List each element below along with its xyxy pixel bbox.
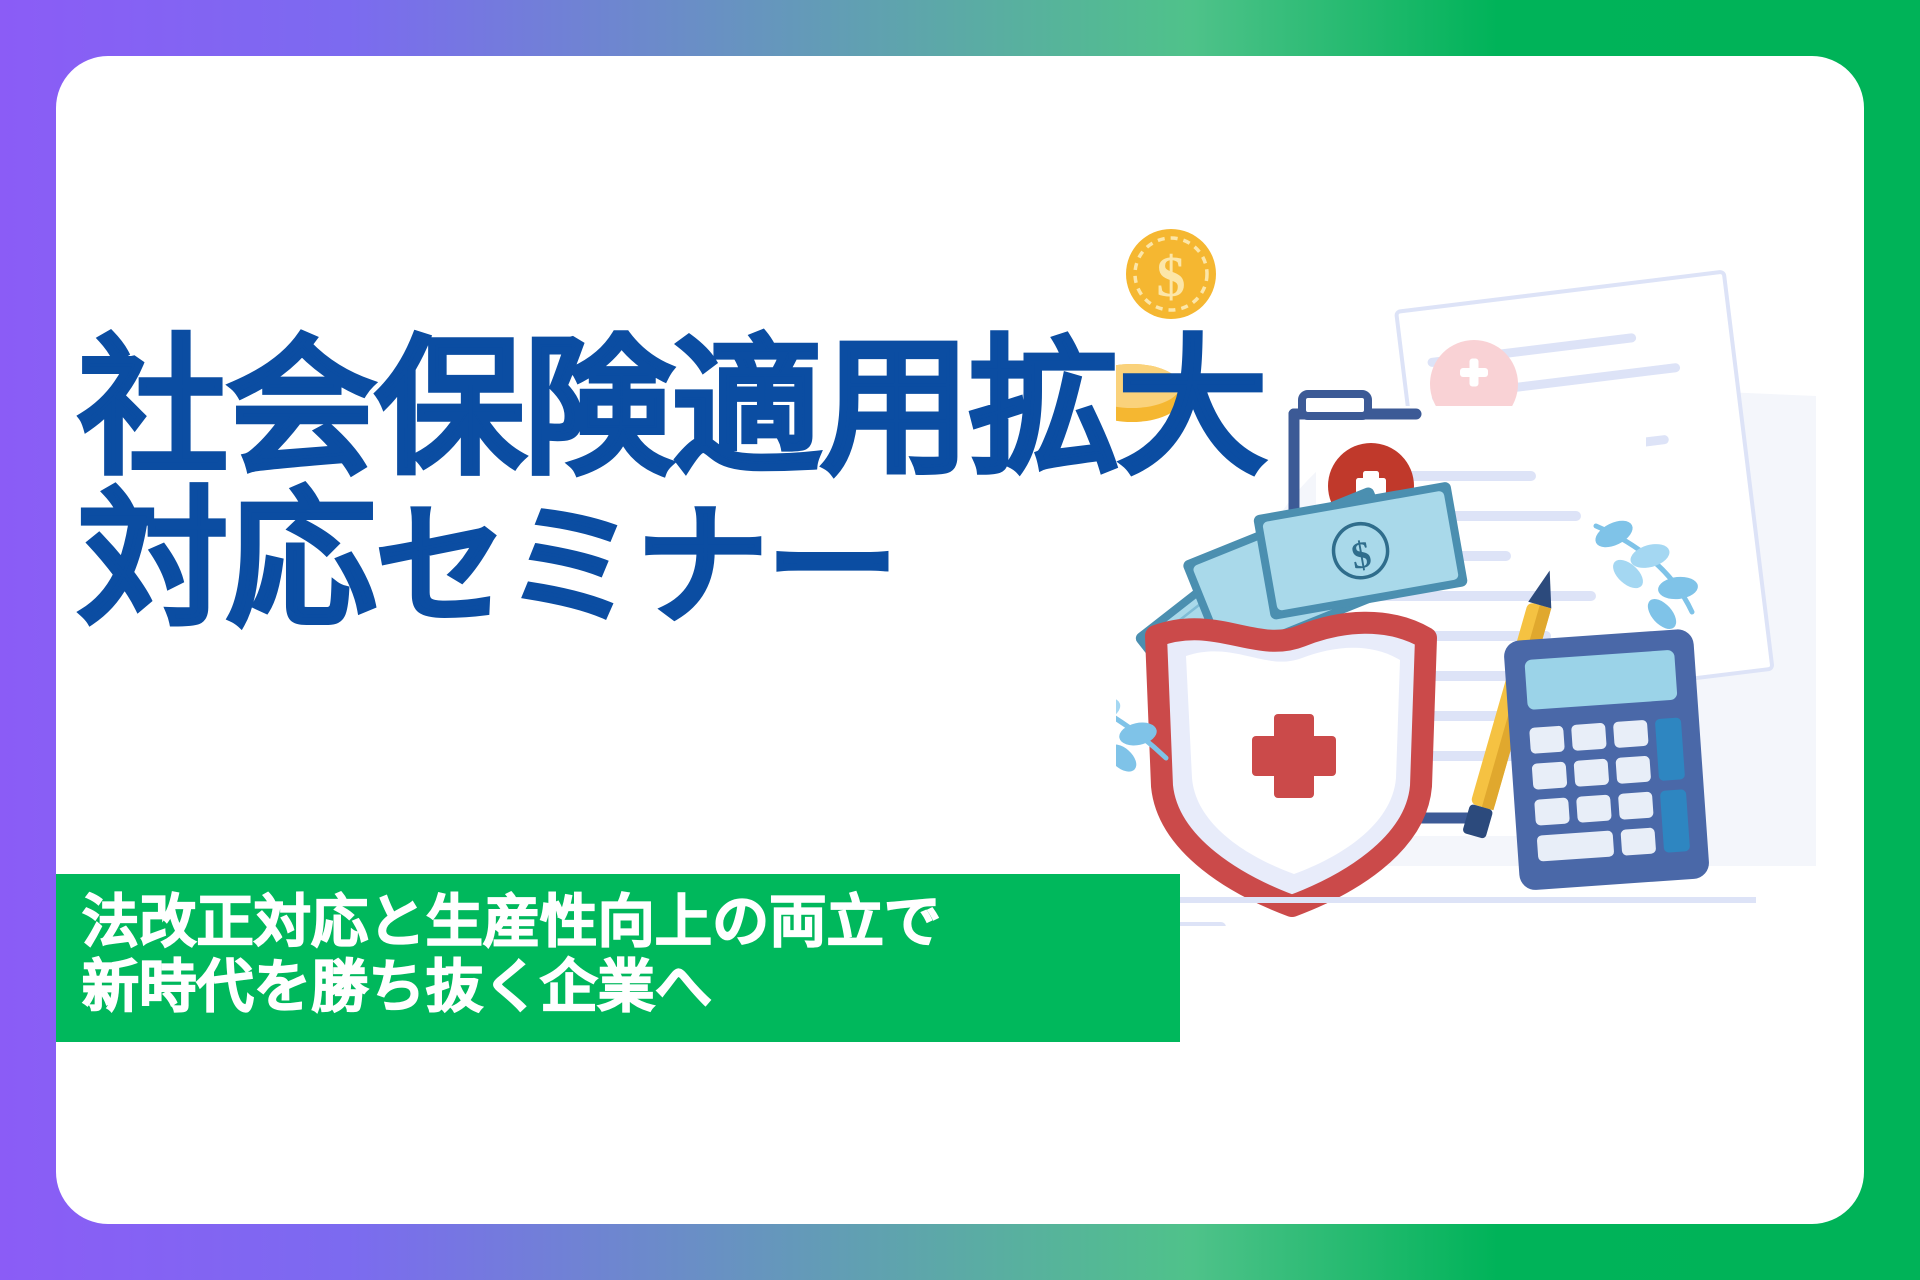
svg-text:$: $ <box>1157 244 1186 309</box>
shield-with-cross <box>1156 623 1426 906</box>
pen <box>1462 567 1561 839</box>
subtitle-band: 法改正対応と生産性向上の両立で 新時代を勝ち抜く企業へ <box>56 874 1180 1042</box>
leaf-sprig-left <box>1116 673 1166 776</box>
svg-text:$: $ <box>1280 553 1315 602</box>
poster-title-line-2: 対応セミナー <box>56 488 1216 634</box>
document-sheet-front <box>1316 406 1646 836</box>
blossom-circle <box>1430 340 1518 428</box>
leaf-sprig-right <box>1591 515 1699 634</box>
poster-title-line-2-suffix: セミナー <box>375 493 897 640</box>
blossom-circle-2 <box>1528 428 1608 508</box>
white-card: $ $ <box>56 56 1864 1224</box>
poster-text-block: 社会保険適用拡大 対応セミナー <box>56 336 1216 633</box>
calculator <box>1503 628 1710 891</box>
clipboard <box>1294 394 1468 818</box>
svg-text:$: $ <box>1348 533 1374 578</box>
backdrop-shape <box>1236 385 1816 866</box>
poster-title-line-2-main: 対応 <box>78 476 375 644</box>
svg-text:$: $ <box>1228 596 1273 645</box>
poster-title-line-1: 社会保険適用拡大 <box>56 336 1216 482</box>
gold-coin: $ <box>1126 229 1216 319</box>
subtitle-line-2: 新時代を勝ち抜く企業へ <box>82 955 1156 1020</box>
document-sheet-back <box>1396 272 1772 709</box>
cross-medallion <box>1328 443 1414 529</box>
subtitle-line-1: 法改正対応と生産性向上の両立で <box>82 890 1156 955</box>
social-insurance-illustration: $ $ <box>1116 206 1816 926</box>
poster-canvas: $ $ <box>0 0 1920 1280</box>
